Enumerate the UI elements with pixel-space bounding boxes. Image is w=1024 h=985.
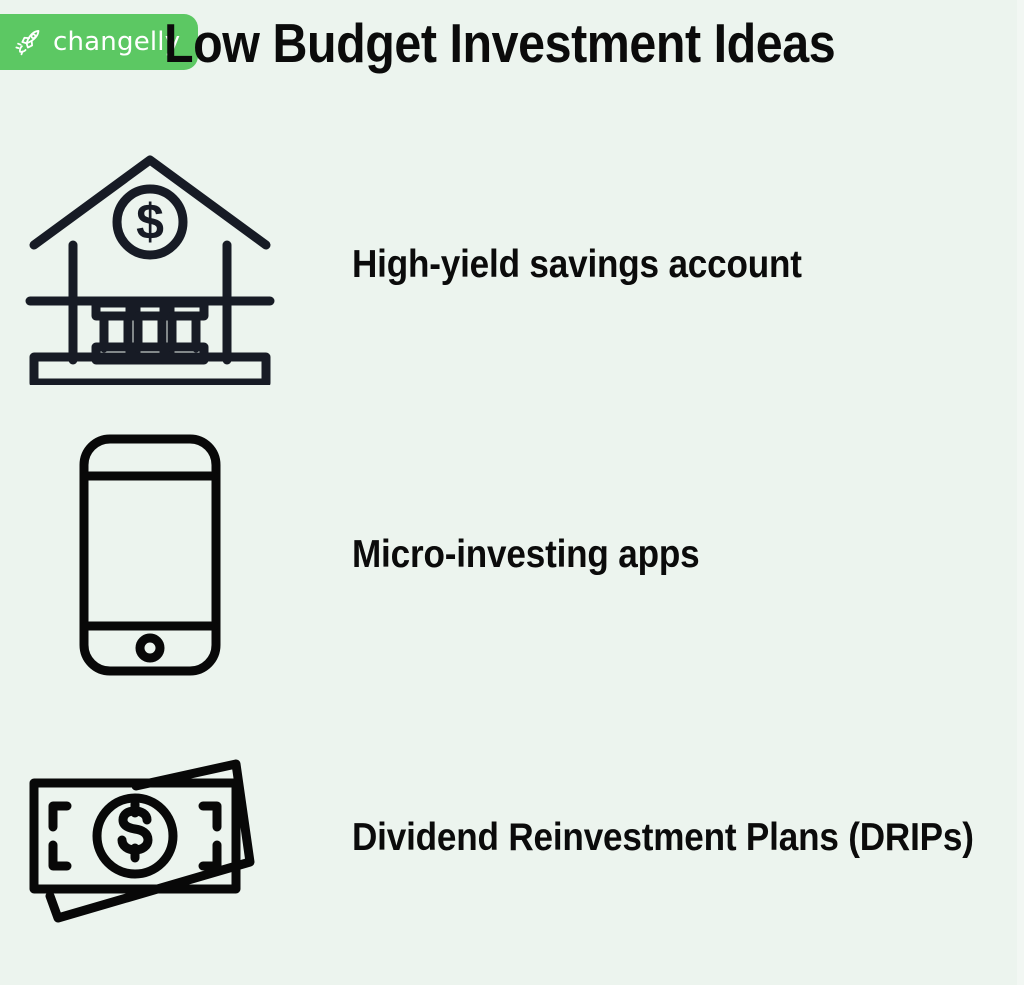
infographic-canvas: changelly Low Budget Investment Ideas [0,0,1024,985]
header: changelly Low Budget Investment Ideas [0,0,1024,100]
bank-building-icon: $ [25,145,275,385]
icon-cell [0,750,300,925]
page-title: Low Budget Investment Ideas [164,11,835,76]
logo-wordmark: changelly [53,29,180,55]
icon-cell: $ [0,145,300,385]
rocket-icon [10,25,44,59]
banknotes-icon [25,750,275,925]
dollar-sign-icon: $ [136,194,164,250]
list-item-label: High-yield savings account [352,243,802,287]
list-item: Dividend Reinvestment Plans (DRIPs) [0,745,1024,930]
list-item-label: Dividend Reinvestment Plans (DRIPs) [352,816,974,860]
list-item: Micro-investing apps [0,430,1024,680]
list-item-label: Micro-investing apps [352,533,699,577]
list-item: $ High-yield savings account [0,140,1024,390]
icon-cell [0,430,300,680]
smartphone-icon [75,430,225,680]
